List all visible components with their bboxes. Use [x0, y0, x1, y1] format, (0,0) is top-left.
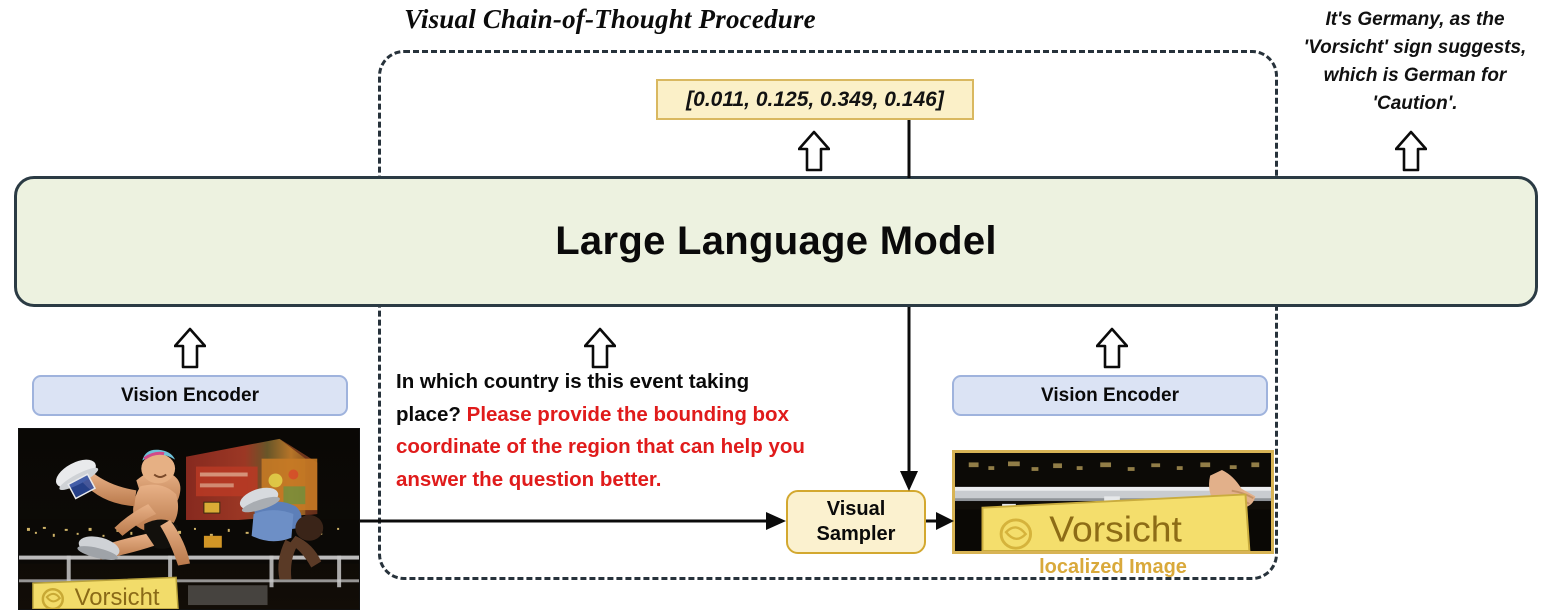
- bbox-coordinates-chip: [0.011, 0.125, 0.349, 0.146]: [656, 79, 974, 120]
- figure-title: Visual Chain-of-Thought Procedure: [300, 4, 920, 35]
- visual-sampler-line2: Sampler: [817, 522, 896, 547]
- svg-text:Vorsicht: Vorsicht: [75, 584, 160, 609]
- visual-sampler-box: Visual Sampler: [786, 490, 926, 554]
- svg-text:Vorsicht: Vorsicht: [1049, 509, 1182, 549]
- vision-encoder-right: Vision Encoder: [952, 375, 1268, 416]
- localized-image-graphic: Vorsicht: [955, 453, 1271, 551]
- connector-sampler-to-localized-image: [926, 508, 956, 534]
- up-arrow-icon-to-answer: [1395, 130, 1427, 172]
- large-language-model-box: Large Language Model: [14, 176, 1538, 307]
- up-arrow-icon-to-bbox: [798, 130, 830, 172]
- source-image-graphic: Vorsicht: [19, 429, 359, 609]
- up-arrow-icon-left-encoder: [174, 327, 206, 369]
- prompt-text: In which country is this event taking pl…: [396, 366, 816, 496]
- connector-llm-to-sampler: [896, 307, 922, 493]
- source-image: Vorsicht: [18, 428, 360, 610]
- connector-bbox-to-llm: [906, 120, 912, 178]
- vision-encoder-left: Vision Encoder: [32, 375, 348, 416]
- visual-sampler-line1: Visual: [827, 497, 886, 522]
- connector-source-image-to-sampler: [360, 508, 790, 534]
- localized-image-caption: localized Image: [952, 556, 1274, 579]
- model-answer-text: It's Germany, as the 'Vorsicht' sign sug…: [1282, 6, 1548, 118]
- up-arrow-icon-right-encoder: [1096, 327, 1128, 369]
- up-arrow-icon-prompt: [584, 327, 616, 369]
- llm-label: Large Language Model: [555, 219, 997, 264]
- localized-image: Vorsicht: [952, 450, 1274, 554]
